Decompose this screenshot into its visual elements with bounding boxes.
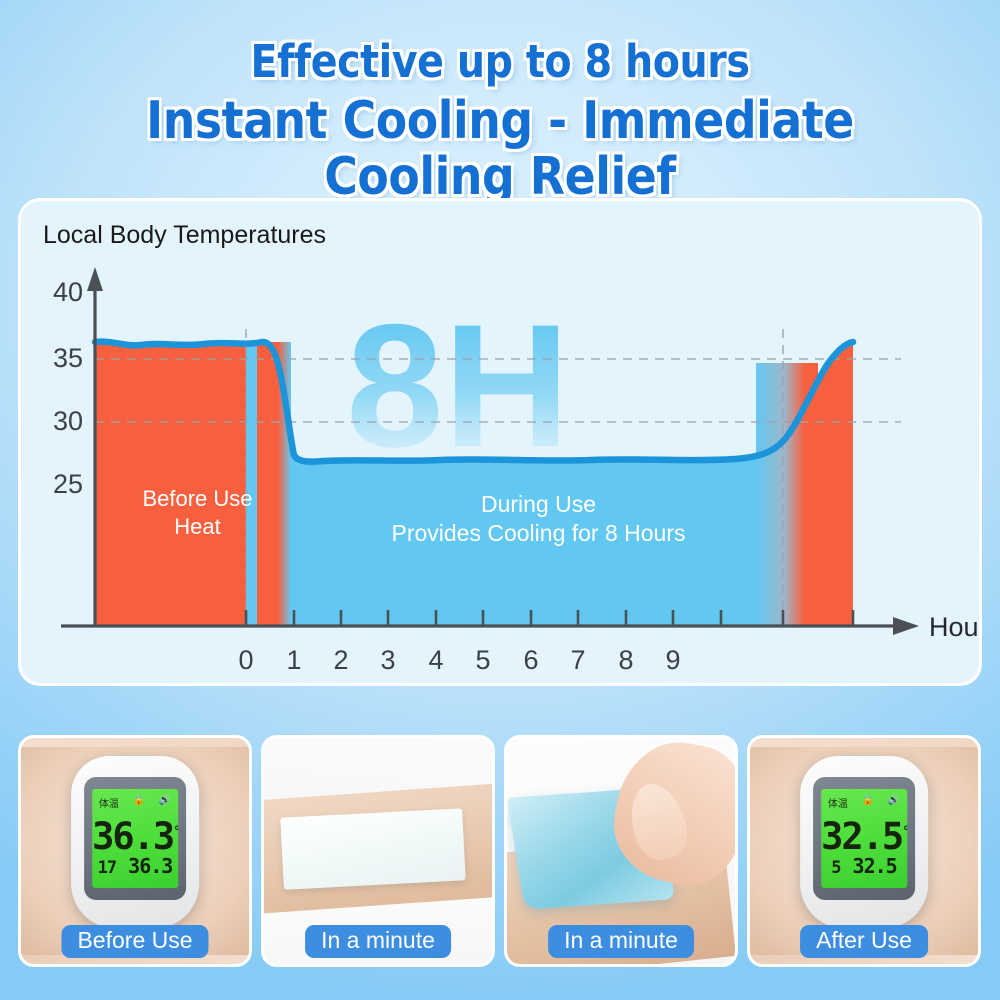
lcd-reading-value: 32.5 [821,815,902,858]
thermometer-body: 体温 🔒 🔊 36.3°C 1736.3 [71,756,199,928]
thermometer-bezel: 体温 🔒 🔊 36.3°C 1736.3 [84,777,186,901]
thumbnail-caption-after-use: After Use [800,925,928,958]
thumbnail-row: 体温 🔒 🔊 36.3°C 1736.3 Before Use [18,735,982,967]
y-tick-label-25: 25 [53,469,83,499]
lcd-reading-value: 36.3 [92,815,173,858]
x-tick-label-4: 4 [428,645,443,675]
x-tick-label-7: 7 [570,645,585,675]
lcd-screen: 体温 🔒 🔊 32.5°C 532.5 [821,789,907,888]
lcd-main-reading: 32.5°C [821,815,907,858]
thumbnail-patch-applied[interactable]: In a minute [261,735,495,967]
lcd-main-reading: 36.3°C [92,815,178,858]
thermometer-bezel: 体温 🔒 🔊 32.5°C 532.5 [813,777,915,901]
thumbnail-caption-in-a-minute-2: In a minute [548,925,694,958]
x-tick-label-0: 0 [238,645,253,675]
mode-icon: 体温 [99,795,119,810]
before-use-region-label: Before Use Heat [125,485,270,540]
y-tick-label-35: 35 [53,343,83,373]
lcd-sub-reading: 1736.3 [92,854,178,878]
x-tick-label-3: 3 [380,645,395,675]
lcd-status-icons: 体温 🔒 🔊 [92,795,178,810]
blend-strip-left [257,342,291,626]
lock-icon: 🔒 [862,795,874,810]
during-use-line-1: During Use [271,490,806,519]
thumbnail-caption-before-use: Before Use [61,925,208,958]
y-tick-label-40: 40 [53,277,83,307]
before-use-line-2: Heat [125,513,270,541]
x-tick-label-6: 6 [523,645,538,675]
y-axis-tick-labels: 40 35 30 25 [53,277,83,499]
during-use-line-2: Provides Cooling for 8 Hours [271,519,806,548]
thumbnail-before-use[interactable]: 体温 🔒 🔊 36.3°C 1736.3 Before Use [18,735,252,967]
thermometer-body: 体温 🔒 🔊 32.5°C 532.5 [800,756,928,928]
infographic-page: Effective up to 8 hours Instant Cooling … [0,0,1000,1000]
lcd-sub-right: 32.5 [853,854,897,878]
mode-icon: 体温 [828,795,848,810]
x-tick-label-9: 9 [665,645,680,675]
cooling-patch [280,808,466,890]
x-tick-label-2: 2 [333,645,348,675]
thumbnail-after-use[interactable]: 体温 🔒 🔊 32.5°C 532.5 After Use [747,735,981,967]
lcd-screen: 体温 🔒 🔊 36.3°C 1736.3 [92,789,178,888]
lcd-unit: °C [902,824,907,839]
chart-panel: Local Body Temperatures [18,198,982,686]
sound-icon: 🔊 [159,795,171,810]
headline-line-2: Instant Cooling - Immediate Cooling Reli… [60,93,940,205]
x-axis-title: Hours [929,612,982,642]
headline-line-1: Effective up to 8 hours [60,38,940,87]
thumbnail-caption-in-a-minute-1: In a minute [305,925,451,958]
lock-icon: 🔒 [133,795,145,810]
x-tick-label-8: 8 [618,645,633,675]
temperature-area-chart: 8H [21,201,982,686]
x-axis-tick-labels: 0 1 2 3 4 5 6 7 8 9 [238,645,680,675]
x-axis-arrow [893,617,919,635]
headline-block: Effective up to 8 hours Instant Cooling … [0,38,1000,205]
y-axis-arrow [87,267,103,291]
before-use-line-1: Before Use [125,485,270,513]
lcd-sub-left: 17 [98,858,116,878]
lcd-status-icons: 体温 🔒 🔊 [821,795,907,810]
thumbnail-peeling-patch[interactable]: In a minute [504,735,738,967]
lcd-sub-right: 36.3 [128,854,172,878]
during-use-region-label: During Use Provides Cooling for 8 Hours [271,490,806,548]
x-tick-label-1: 1 [286,645,301,675]
x-tick-label-5: 5 [475,645,490,675]
lcd-sub-reading: 532.5 [821,854,907,878]
sound-icon: 🔊 [888,795,900,810]
watermark-8h: 8H [346,289,570,484]
lcd-unit: °C [173,824,178,839]
y-tick-label-30: 30 [53,406,83,436]
lcd-sub-left: 5 [831,858,840,878]
